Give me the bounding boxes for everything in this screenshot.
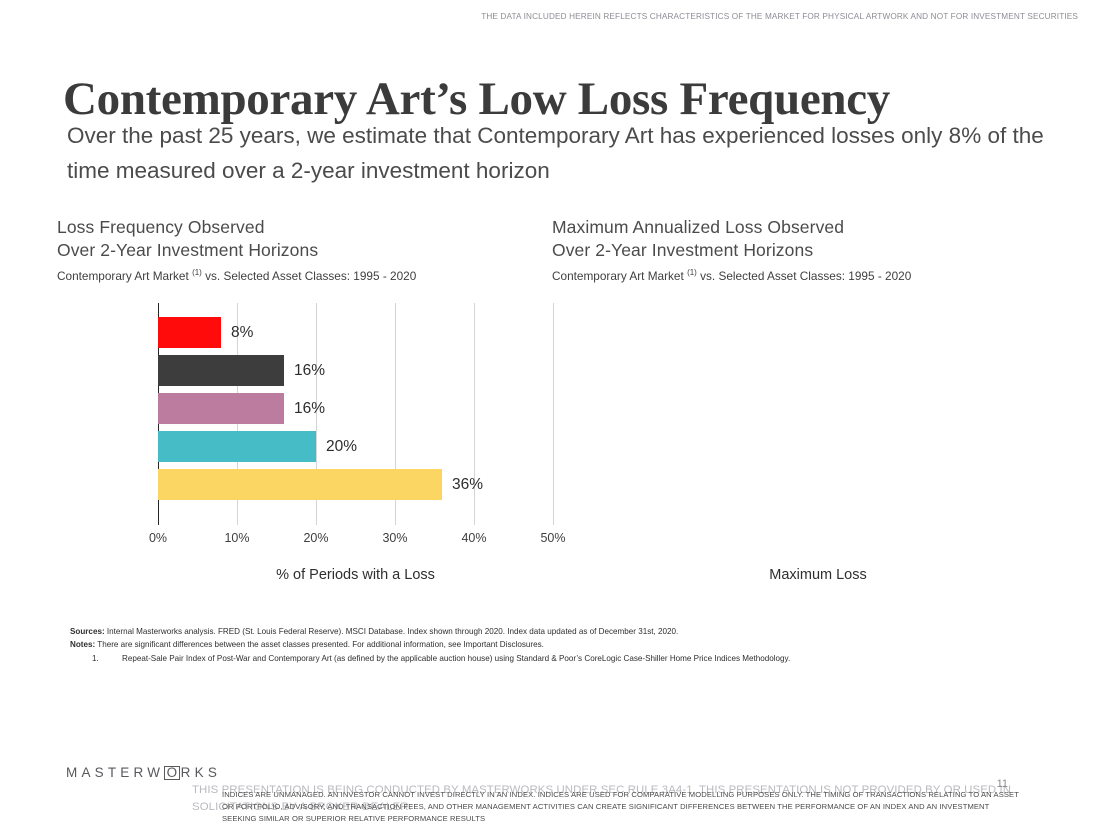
footnotes-block: Sources: Internal Masterworks analysis. … — [70, 625, 1030, 665]
bar-row: 20% — [158, 431, 553, 462]
footnote-1: 1.Repeat-Sale Pair Index of Post-War and… — [70, 652, 1030, 665]
footnote-1-number: 1. — [70, 652, 122, 665]
bar-gold: 36% — [158, 469, 442, 500]
notes-text: There are significant differences betwee… — [95, 640, 544, 649]
notes-line: Notes: There are significant differences… — [70, 638, 1030, 651]
bar-global-equities: 16% — [158, 393, 284, 424]
left-plot-area: 8%16%16%20%36%Contemporary ArtS&P 500 To… — [158, 303, 553, 525]
bar-row: 16% — [158, 393, 553, 424]
left-x-axis-ticks: 0%10%20%30%40%50% — [158, 531, 553, 547]
left-chart-heading-line1: Loss Frequency Observed — [57, 216, 557, 239]
left-sub-footnote-marker: (1) — [192, 268, 202, 277]
right-sub-suffix: vs. Selected Asset Classes: 1995 - 2020 — [697, 269, 911, 283]
x-tick-label: 50% — [540, 531, 565, 545]
bar-row: 36% — [158, 469, 553, 500]
bar-row: 16% — [158, 355, 553, 386]
right-sub-footnote-marker: (1) — [687, 268, 697, 277]
x-tick-label: 30% — [382, 531, 407, 545]
bar-value-label: 16% — [294, 355, 325, 386]
x-tick-label: 20% — [303, 531, 328, 545]
gridline — [553, 303, 554, 525]
left-sub-prefix: Contemporary Art Market — [57, 269, 192, 283]
right-sub-prefix: Contemporary Art Market — [552, 269, 687, 283]
right-x-axis-title: Maximum Loss — [698, 567, 938, 583]
left-chart-header: Loss Frequency Observed Over 2-Year Inve… — [57, 216, 557, 284]
footer-disclaimer-secondary: INDICES ARE UNMANAGED. AN INVESTOR CANNO… — [222, 789, 1022, 825]
top-disclaimer-banner: THE DATA INCLUDED HEREIN REFLECTS CHARAC… — [481, 12, 1078, 21]
logo-boxed-o-icon: O — [164, 766, 180, 780]
logo-text-part1: MASTERW — [66, 765, 164, 780]
sources-label: Sources: — [70, 627, 105, 636]
right-chart-heading-line2: Over 2-Year Investment Horizons — [552, 239, 1072, 262]
logo-text-part2: RKS — [181, 765, 221, 780]
maximum-loss-chart: (11.4%)(18.2%)(19.1%)(9.7%)(14.7%) (16.7… — [560, 303, 1100, 525]
right-chart-subheading: Contemporary Art Market (1) vs. Selected… — [552, 265, 1072, 284]
masterworks-logo: MASTERWORKS — [66, 765, 221, 780]
right-chart-heading-line1: Maximum Annualized Loss Observed — [552, 216, 1072, 239]
bar-s-p-500-total-return: 16% — [158, 355, 284, 386]
bar-value-label: 16% — [294, 393, 325, 424]
bar-row: 8% — [158, 317, 553, 348]
x-tick-label: 10% — [224, 531, 249, 545]
x-tick-label: 40% — [461, 531, 486, 545]
left-chart-heading-line2: Over 2-Year Investment Horizons — [57, 239, 557, 262]
bar-us-housing: 20% — [158, 431, 316, 462]
footnote-1-text: Repeat-Sale Pair Index of Post-War and C… — [122, 652, 790, 665]
x-tick-label: 0% — [149, 531, 167, 545]
bar-contemporary-art: 8% — [158, 317, 221, 348]
right-chart-header: Maximum Annualized Loss Observed Over 2-… — [552, 216, 1072, 284]
loss-frequency-chart: 8%16%16%20%36%Contemporary ArtS&P 500 To… — [0, 303, 560, 525]
page-subtitle: Over the past 25 years, we estimate that… — [67, 118, 1057, 188]
bar-value-label: 20% — [326, 431, 357, 462]
left-chart-subheading: Contemporary Art Market (1) vs. Selected… — [57, 265, 557, 284]
page-number: 11 — [997, 778, 1008, 790]
left-x-axis-title: % of Periods with a Loss — [158, 567, 553, 583]
left-sub-suffix: vs. Selected Asset Classes: 1995 - 2020 — [202, 269, 416, 283]
sources-text: Internal Masterworks analysis. FRED (St.… — [105, 627, 679, 636]
bar-value-label: 8% — [231, 317, 253, 348]
sources-line: Sources: Internal Masterworks analysis. … — [70, 625, 1030, 638]
bar-value-label: 36% — [452, 469, 483, 500]
notes-label: Notes: — [70, 640, 95, 649]
